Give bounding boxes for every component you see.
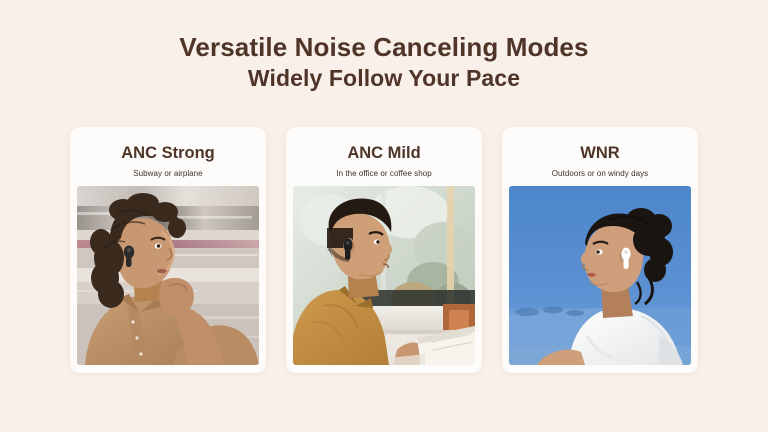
- card-photo-subway: Woman with curly hair wearing black earb…: [77, 186, 259, 365]
- mode-card-anc-mild[interactable]: ANC Mild In the office or coffee shop Ma…: [286, 127, 482, 373]
- card-photo-cafe: Man in mustard shirt wearing black earbu…: [293, 186, 475, 365]
- cafe-scene-illustration: [293, 186, 475, 365]
- card-title: ANC Strong: [121, 144, 215, 162]
- card-subtitle: In the office or coffee shop: [336, 169, 431, 178]
- outdoors-scene-illustration: [509, 186, 691, 365]
- card-subtitle: Subway or airplane: [133, 169, 202, 178]
- heading-line-2: Widely Follow Your Pace: [0, 65, 768, 92]
- heading-line-1: Versatile Noise Canceling Modes: [0, 32, 768, 63]
- card-title: ANC Mild: [347, 144, 420, 162]
- promo-page: Versatile Noise Canceling Modes Widely F…: [0, 0, 768, 432]
- page-title: Versatile Noise Canceling Modes Widely F…: [0, 32, 768, 92]
- card-title: WNR: [580, 144, 619, 162]
- card-subtitle: Outdoors or on windy days: [552, 169, 648, 178]
- mode-card-anc-strong[interactable]: ANC Strong Subway or airplane Woman with…: [70, 127, 266, 373]
- subway-scene-illustration: [77, 186, 259, 365]
- mode-cards-row: ANC Strong Subway or airplane Woman with…: [70, 127, 698, 373]
- mode-card-wnr[interactable]: WNR Outdoors or on windy days Woman with…: [502, 127, 698, 373]
- card-photo-outdoors: Woman with ponytail in white t-shirt wea…: [509, 186, 691, 365]
